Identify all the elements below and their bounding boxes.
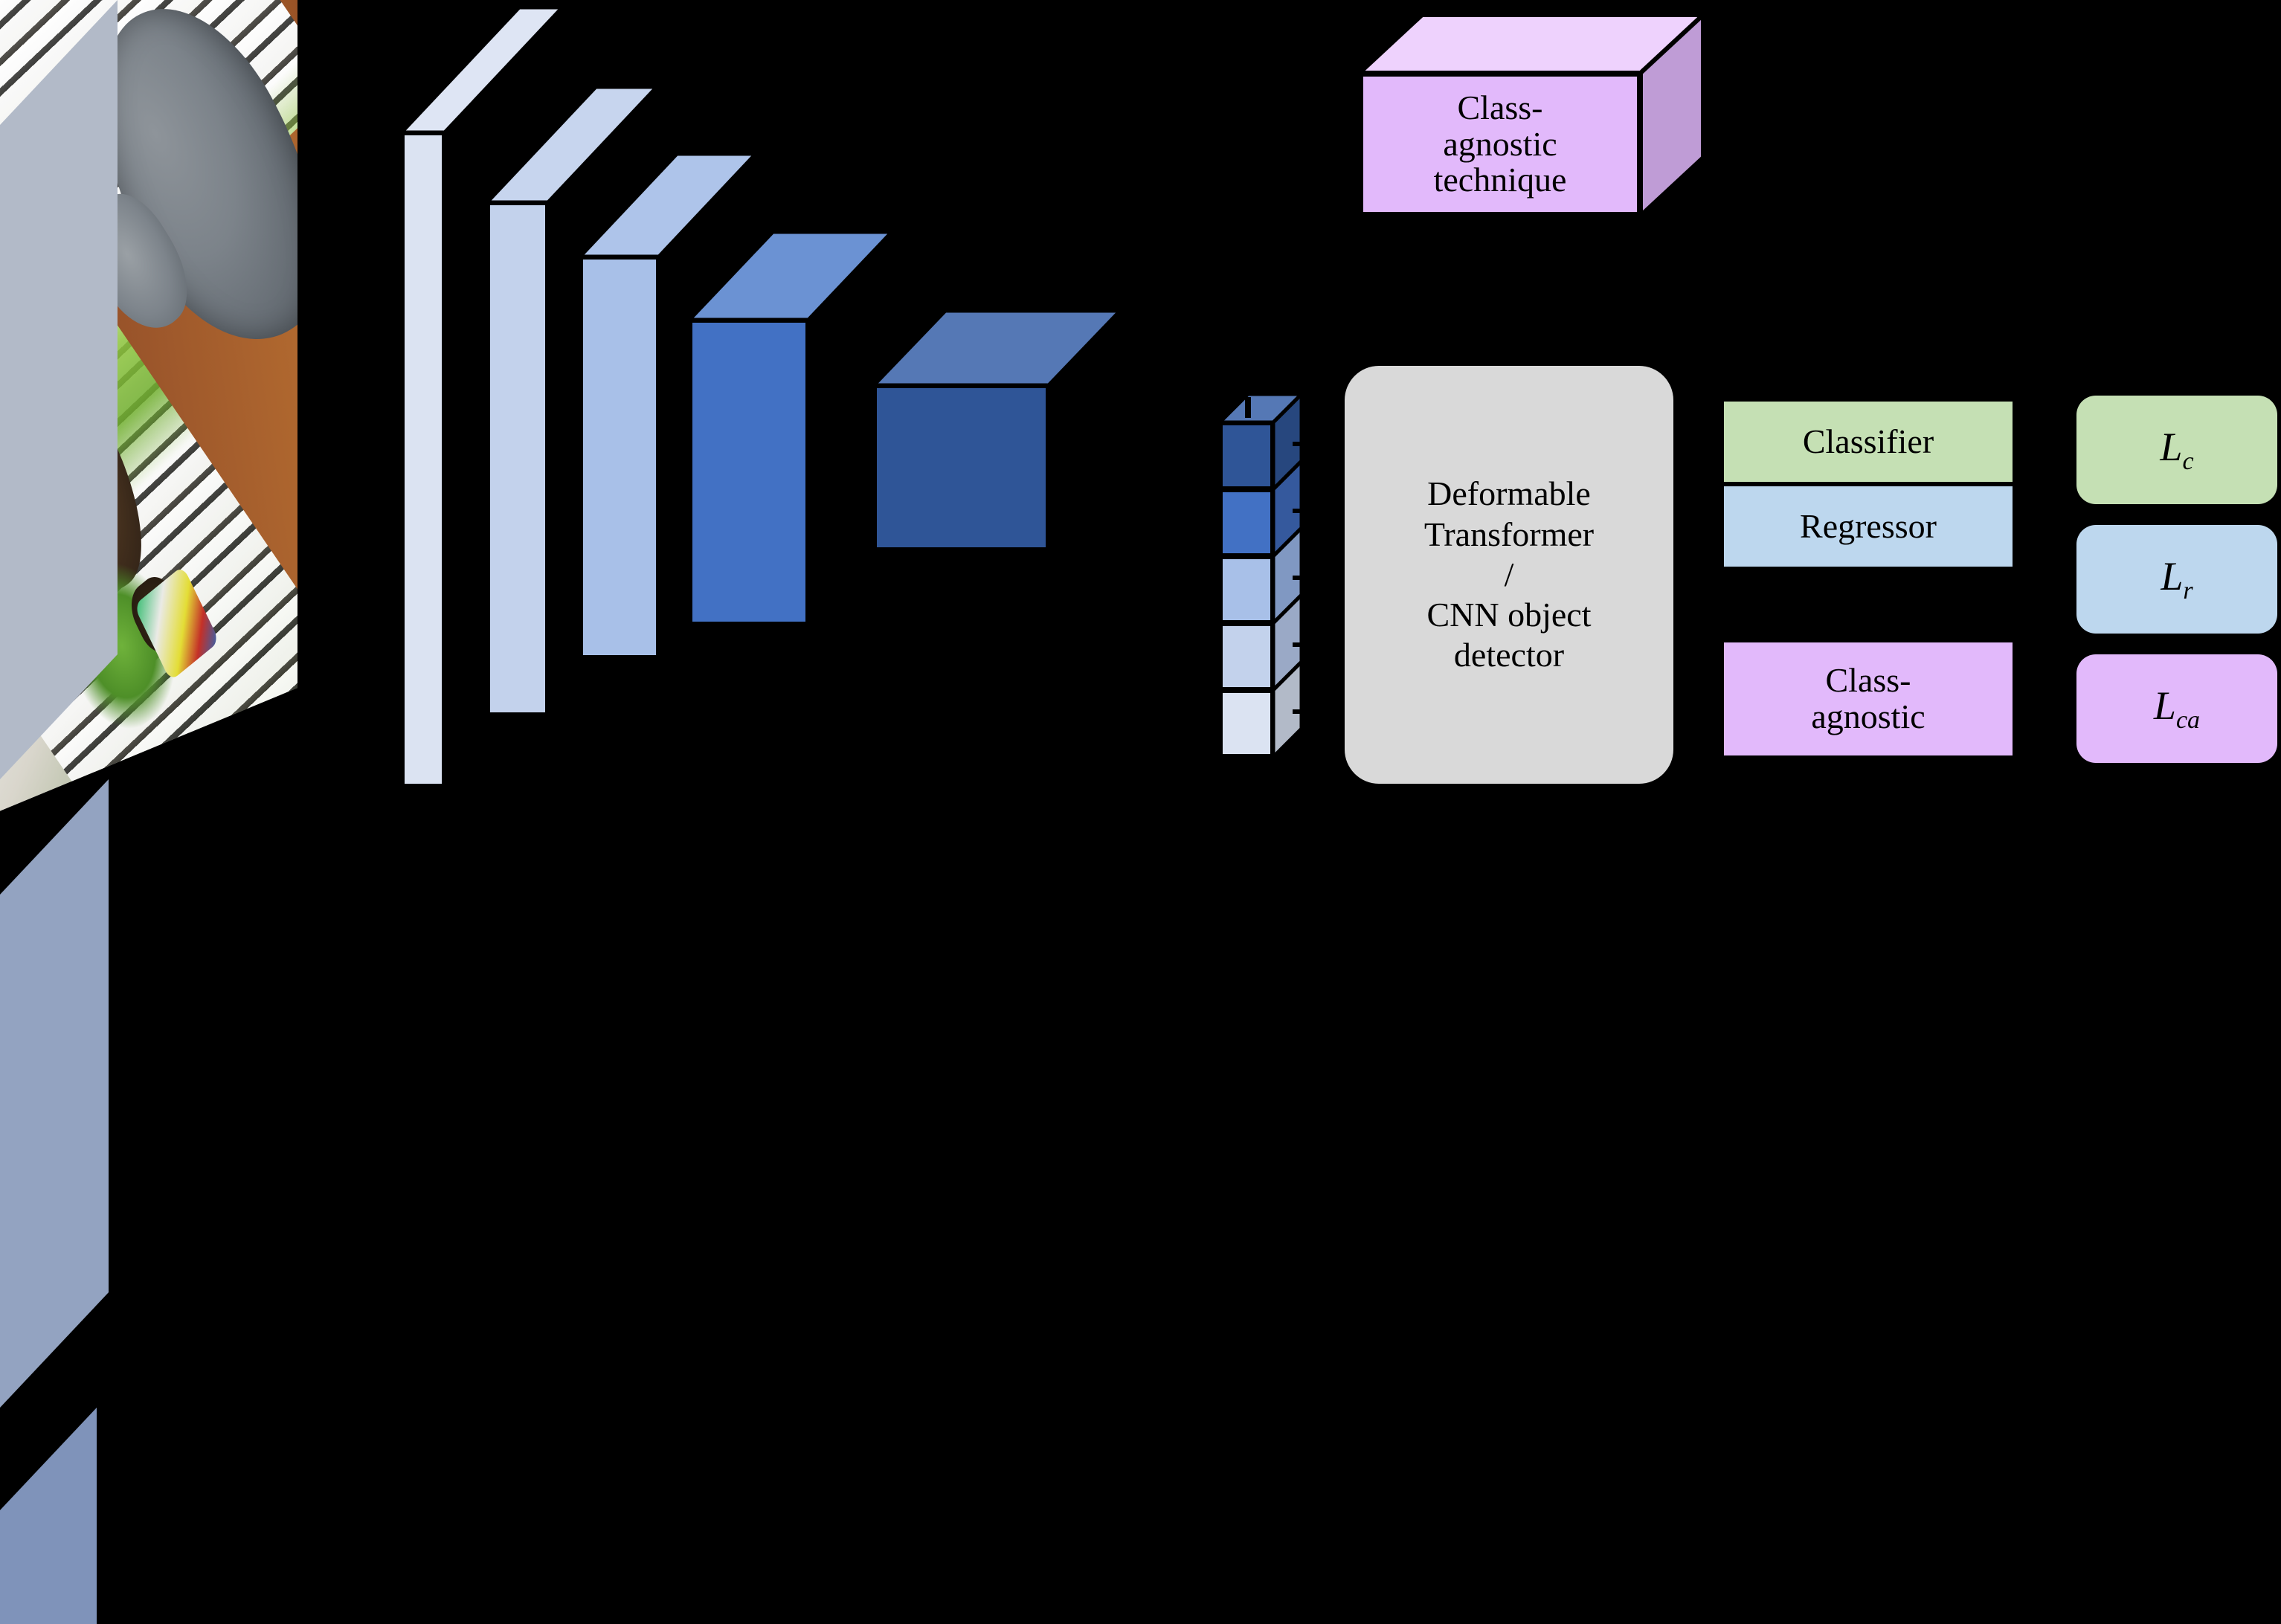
loss-regression-label: Lr bbox=[2161, 553, 2192, 605]
backbone-block-3-front-face bbox=[580, 257, 659, 658]
feature-cell-3-connector-tick bbox=[1293, 576, 1318, 580]
regressor-head-label: Regressor bbox=[1800, 509, 1937, 545]
feature-cell-2-connector-tick bbox=[1293, 509, 1318, 513]
class-agnostic-technique-box[interactable]: Class- agnostic technique bbox=[1360, 15, 1703, 216]
feature-cell-4-front-face bbox=[1220, 623, 1273, 690]
detector-module[interactable]: Deformable Transformer / CNN object dete… bbox=[1345, 366, 1673, 784]
feature-cell-1-connector-tick bbox=[1293, 442, 1318, 446]
class-agnostic-head[interactable]: Class- agnostic bbox=[1724, 642, 2013, 755]
backbone-block-4-connector-tick bbox=[795, 708, 829, 712]
backbone-block-2-front-face bbox=[487, 202, 548, 715]
loss-classification-label: Lc bbox=[2160, 424, 2193, 476]
backbone-block-2-side-face bbox=[0, 779, 109, 1408]
backbone-block-1-connector-tick bbox=[431, 907, 466, 912]
backbone-block-1-side-face bbox=[0, 0, 118, 779]
loss-regression[interactable]: Lr bbox=[2076, 525, 2277, 634]
loss-class-agnostic-label: Lca bbox=[2154, 683, 2200, 735]
backbone-block-5-top-face bbox=[874, 311, 1120, 385]
backbone-block-3-side-face bbox=[0, 1408, 97, 1624]
classifier-head[interactable]: Classifier bbox=[1724, 402, 2013, 482]
feature-cell-3-front-face bbox=[1220, 556, 1273, 623]
feature-cell-5-connector-tick bbox=[1293, 709, 1318, 714]
backbone-block-5-connector-tick bbox=[1035, 620, 1069, 625]
backbone-block-5-front-face bbox=[874, 385, 1049, 550]
feature-cell-2-front-face bbox=[1220, 489, 1273, 556]
loss-classification[interactable]: Lc bbox=[2076, 396, 2277, 504]
diagram-canvas: Class- agnostic technique Deformable Tra… bbox=[0, 0, 2281, 812]
feature-stack-top-face bbox=[1220, 394, 1302, 422]
class-agnostic-box-side-face bbox=[1641, 15, 1703, 216]
backbone-block-4-top-face bbox=[689, 232, 892, 320]
feature-stack-top-tick bbox=[1245, 397, 1251, 418]
class-agnostic-head-label: Class- agnostic bbox=[1811, 663, 1925, 735]
classifier-head-label: Classifier bbox=[1803, 424, 1934, 460]
feature-cell-5-front-face bbox=[1220, 690, 1273, 757]
class-agnostic-box-label: Class- agnostic technique bbox=[1426, 90, 1574, 199]
regressor-head[interactable]: Regressor bbox=[1724, 486, 2013, 567]
backbone-block-1-front-face bbox=[402, 132, 445, 787]
backbone-block-2-connector-tick bbox=[535, 826, 569, 831]
loss-class-agnostic[interactable]: Lca bbox=[2076, 654, 2277, 763]
class-agnostic-box-front-face: Class- agnostic technique bbox=[1360, 73, 1641, 216]
detector-module-label: Deformable Transformer / CNN object dete… bbox=[1424, 474, 1594, 675]
backbone-block-3-connector-tick bbox=[646, 756, 680, 761]
cnn-backbone bbox=[0, 0, 2281, 1624]
feature-cell-4-connector-tick bbox=[1293, 642, 1318, 647]
feature-cell-1-front-face bbox=[1220, 422, 1273, 489]
backbone-block-4-front-face bbox=[689, 320, 808, 625]
